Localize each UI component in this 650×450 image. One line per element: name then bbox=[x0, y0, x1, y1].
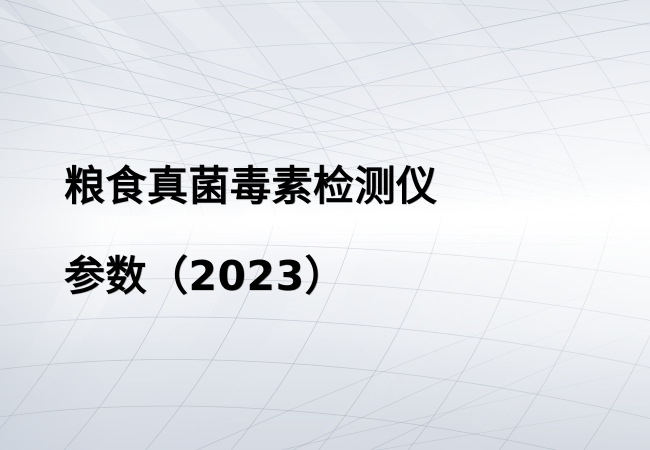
title-banner: 粮食真菌毒素检测仪 参数（2023） bbox=[0, 0, 650, 450]
title-line-1: 粮食真菌毒素检测仪 bbox=[64, 141, 584, 231]
page-title: 粮食真菌毒素检测仪 参数（2023） bbox=[64, 141, 584, 321]
title-line-2: 参数（2023） bbox=[64, 231, 584, 321]
